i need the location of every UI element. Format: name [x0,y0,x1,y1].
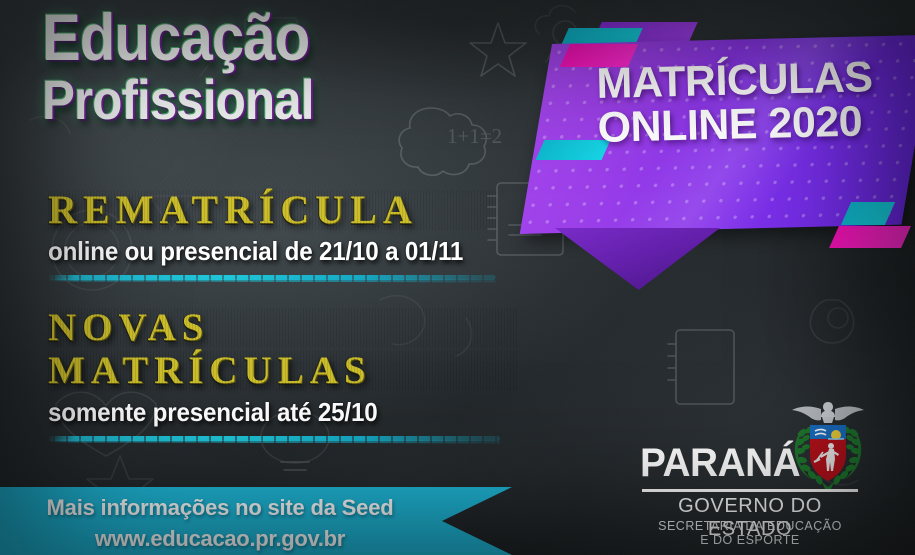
parana-government-logo: PARANÁ GOVERNO DO ESTADO SECRETARIA DA E… [640,398,885,550]
logo-divider [642,489,858,492]
logo-secretariat: SECRETARIA DA EDUCAÇÃO E DO ESPORTE [642,519,858,548]
svg-text:1+1=2: 1+1=2 [447,124,502,148]
promotional-banner: 1+1=2 [0,0,915,555]
headline-line-2: Profissional [42,73,314,127]
logo-state-name: PARANÁ [640,441,800,486]
footer-line-1: Mais informações no site da Seed [0,495,440,521]
footer-website[interactable]: www.educacao.pr.gov.br [0,526,440,552]
rematricula-block: REMATRÍCULA online ou presencial de 21/1… [48,190,498,282]
novas-heading-line-1: NOVAS [48,308,518,347]
banner-line-2: ONLINE 2020 [597,98,915,150]
page-title: Educação Profissional [42,6,351,127]
novas-underline [48,434,500,443]
accent-magenta-bottom [829,226,911,248]
headline-line-1: Educação [42,6,314,69]
rematricula-underline [48,273,496,282]
banner-text: MATRÍCULAS ONLINE 2020 [596,54,915,151]
logo-secretariat-line-2: E DO ESPORTE [642,533,858,547]
rematricula-detail: online ou presencial de 21/10 a 01/11 [48,236,467,267]
logo-secretariat-line-1: SECRETARIA DA EDUCAÇÃO [642,519,858,533]
rematricula-heading: REMATRÍCULA [48,190,498,230]
novas-heading-line-2: MATRÍCULAS [48,351,518,390]
footer-ribbon: Mais informações no site da Seed www.edu… [0,487,512,555]
novas-matriculas-block: NOVAS MATRÍCULAS somente presencial até … [48,308,518,443]
novas-detail: somente presencial até 25/10 [48,397,485,428]
banner-line-1: MATRÍCULAS [596,54,915,106]
